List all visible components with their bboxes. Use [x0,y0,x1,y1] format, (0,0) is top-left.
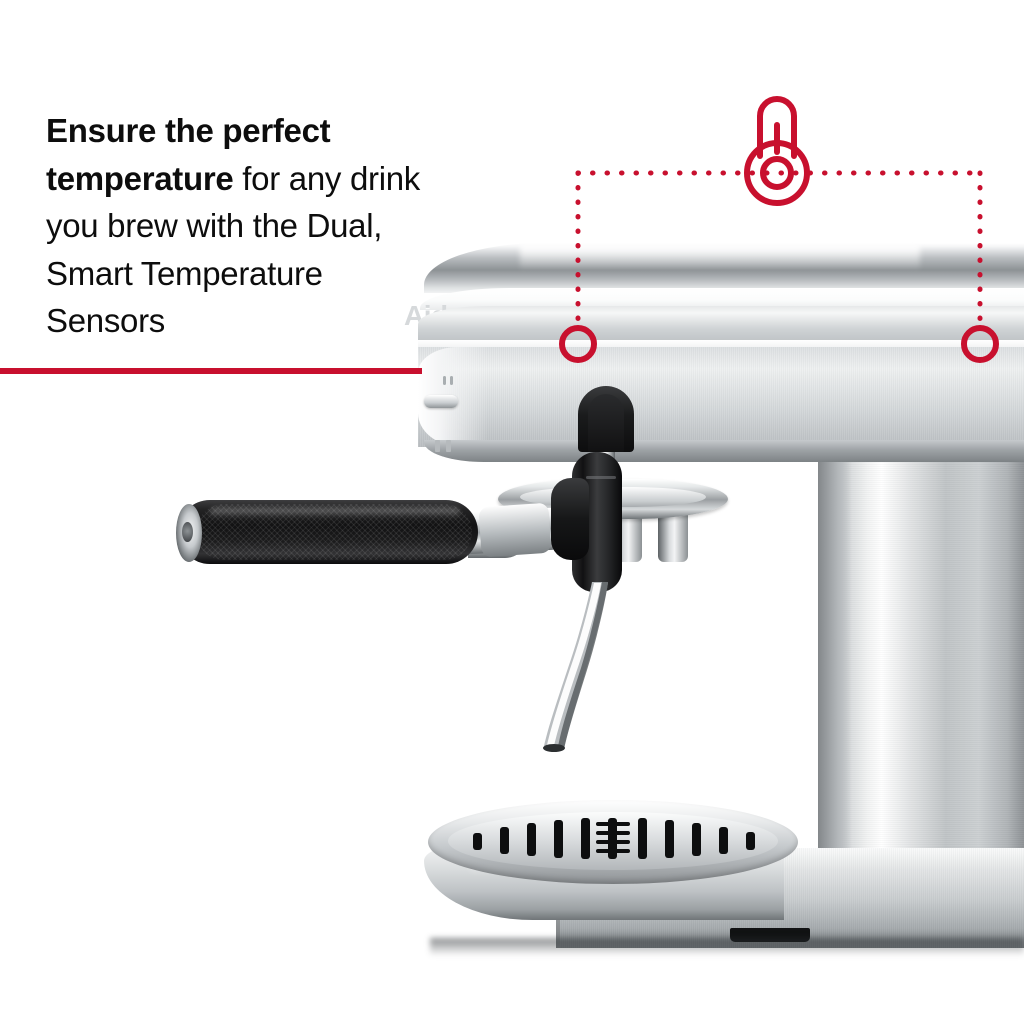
page-headline: Ensure the perfect temperature for any d… [46,107,426,345]
thermometer-icon [747,99,807,203]
sensor-marker-left [562,328,594,360]
marketing-image-canvas: Aid [0,0,1024,1024]
red-rule-divider [0,368,422,374]
sensor-marker-right [964,328,996,360]
